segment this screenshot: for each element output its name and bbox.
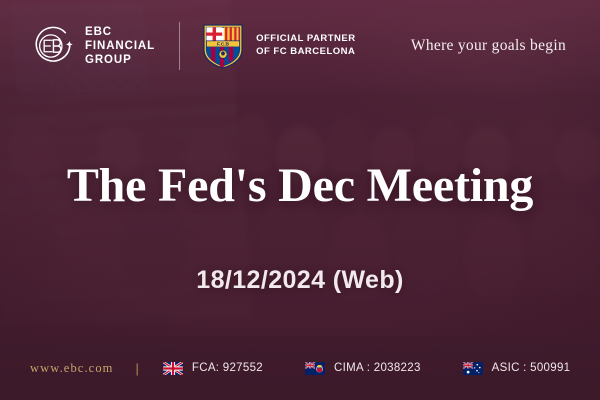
website-url[interactable]: www.ebc.com [30,361,114,376]
license-list: FCA: 927552 CIMA [163,362,570,375]
svg-text:F.C.B: F.C.B [217,42,230,48]
license-label-cima: CIMA : 2038223 [334,362,421,374]
fc-barcelona-partner: F.C.B OFFICIAL PARTNER OF FC BARCELONA [202,22,355,70]
ebc-monogram-icon [30,23,76,69]
license-item-asic: ASIC : 500991 [463,362,571,375]
banner-header: EBC FINANCIAL GROUP [0,0,600,92]
ebc-wordmark-line-1: EBC [85,25,155,39]
page-title: The Fed's Dec Meeting [67,161,533,212]
license-label-asic: ASIC : 500991 [492,362,571,374]
event-date-subtitle: 18/12/2024 (Web) [196,266,403,295]
ebc-logo: EBC FINANCIAL GROUP [30,23,155,69]
header-divider [179,22,180,70]
promo-banner: EBC FINANCIAL GROUP [0,0,600,400]
license-label-fca: FCA: 927552 [192,362,263,374]
cayman-islands-flag-icon [305,362,325,375]
ebc-wordmark-line-3: GROUP [85,53,155,67]
brand-tagline: Where your goals begin [411,37,570,55]
uk-flag-icon [163,362,183,375]
fc-barcelona-crest-icon: F.C.B [202,22,244,70]
license-item-fca: FCA: 927552 [163,362,263,375]
ebc-wordmark-line-2: FINANCIAL [85,39,155,53]
australia-flag-icon [463,362,483,375]
partner-line-1: OFFICIAL PARTNER [256,33,355,46]
footer-divider: | [136,362,139,375]
partner-line-2: OF FC BARCELONA [256,46,355,59]
license-item-cima: CIMA : 2038223 [305,362,421,375]
banner-footer: www.ebc.com | FCA: 927552 [0,336,600,400]
ebc-wordmark: EBC FINANCIAL GROUP [85,25,155,68]
banner-main: The Fed's Dec Meeting 18/12/2024 (Web) [0,120,600,336]
fc-barcelona-partner-text: OFFICIAL PARTNER OF FC BARCELONA [256,33,355,58]
